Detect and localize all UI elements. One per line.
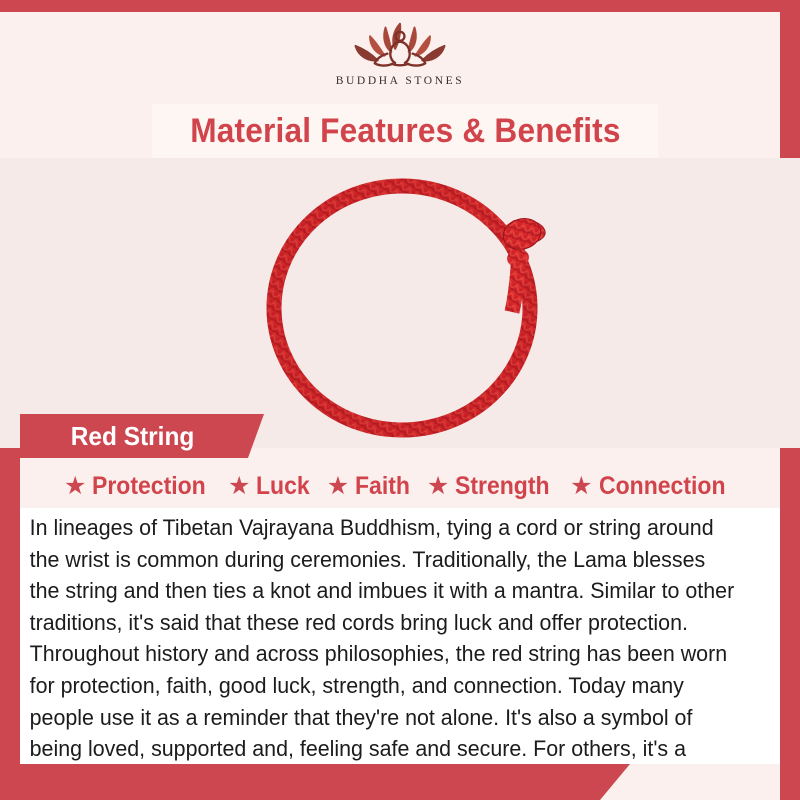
infographic-poster: BUDDHA STONES Material Features & Benefi… bbox=[0, 0, 800, 800]
title-banner: Material Features & Benefits bbox=[152, 104, 658, 158]
star-icon: ★ bbox=[64, 474, 86, 499]
product-image-red-string-bracelet bbox=[250, 162, 590, 442]
product-label-text: Red String bbox=[20, 421, 194, 452]
brand-logo: BUDDHA STONES bbox=[0, 14, 800, 100]
description-text: In lineages of Tibetan Vajrayana Buddhis… bbox=[20, 508, 753, 796]
benefit-item-luck: ★ Luck bbox=[228, 472, 315, 501]
top-accent-bar bbox=[0, 0, 800, 12]
description-panel: In lineages of Tibetan Vajrayana Buddhis… bbox=[20, 508, 780, 764]
brand-name: BUDDHA STONES bbox=[336, 75, 464, 87]
lotus-meditation-figure-icon bbox=[325, 14, 475, 74]
star-icon: ★ bbox=[228, 474, 250, 499]
star-icon: ★ bbox=[427, 474, 449, 499]
benefit-item-strength: ★ Strength bbox=[427, 472, 558, 501]
product-label-banner: Red String bbox=[20, 414, 248, 458]
star-icon: ★ bbox=[570, 474, 592, 499]
benefit-label: Faith bbox=[355, 472, 410, 501]
benefit-label: Connection bbox=[599, 472, 726, 501]
benefit-item-protection: ★ Protection bbox=[64, 472, 216, 501]
star-icon: ★ bbox=[327, 474, 349, 499]
benefit-label: Strength bbox=[455, 472, 550, 501]
benefit-item-connection: ★ Connection bbox=[570, 472, 736, 501]
benefit-label: Protection bbox=[92, 472, 206, 501]
benefits-row: ★ Protection ★ Luck ★ Faith ★ Strength ★… bbox=[20, 466, 780, 506]
benefit-label: Luck bbox=[256, 472, 310, 501]
bottom-accent-bar bbox=[0, 764, 600, 800]
benefit-item-faith: ★ Faith bbox=[327, 472, 415, 501]
page-title: Material Features & Benefits bbox=[190, 112, 620, 151]
